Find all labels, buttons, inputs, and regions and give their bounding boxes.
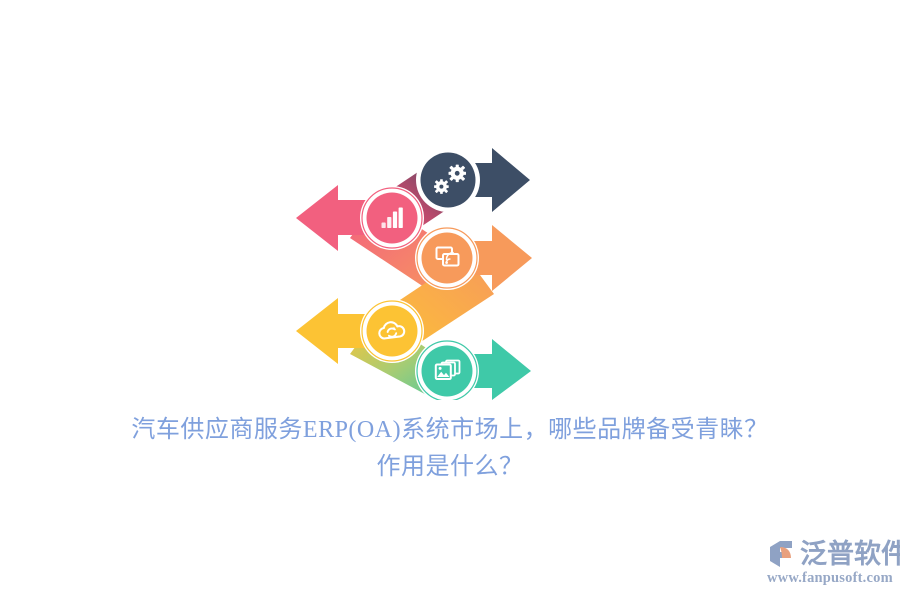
- step-2-node[interactable]: [360, 186, 424, 250]
- caption-line-2: 作用是什么？: [0, 449, 900, 486]
- page-canvas: 汽车供应商服务ERP(OA)系统市场上，哪些品牌备受青睐？ 作用是什么？ 泛普软…: [0, 0, 900, 600]
- fanpu-logo-icon: [766, 538, 798, 570]
- step-1-disc: [421, 153, 476, 208]
- watermark-logo: 泛普软件 www.fanpusoft.com: [766, 536, 894, 592]
- step-4-node[interactable]: [360, 299, 424, 363]
- logo-brand-text: 泛普软件: [800, 538, 900, 570]
- step-1-node[interactable]: [416, 148, 480, 212]
- step-2-disc: [367, 193, 418, 244]
- caption-line-1: 汽车供应商服务ERP(OA)系统市场上，哪些品牌备受青睐？: [0, 412, 900, 449]
- logo-url-text: www.fanpusoft.com: [767, 570, 894, 587]
- caption-block: 汽车供应商服务ERP(OA)系统市场上，哪些品牌备受青睐？ 作用是什么？: [0, 412, 900, 486]
- step-3-node[interactable]: [415, 226, 479, 290]
- step-5-node[interactable]: [415, 339, 479, 400]
- logo-row: 泛普软件: [766, 536, 894, 572]
- infographic-svg: [280, 140, 540, 400]
- step-4-disc: [367, 306, 418, 357]
- five-step-arrow-infographic: [280, 140, 540, 400]
